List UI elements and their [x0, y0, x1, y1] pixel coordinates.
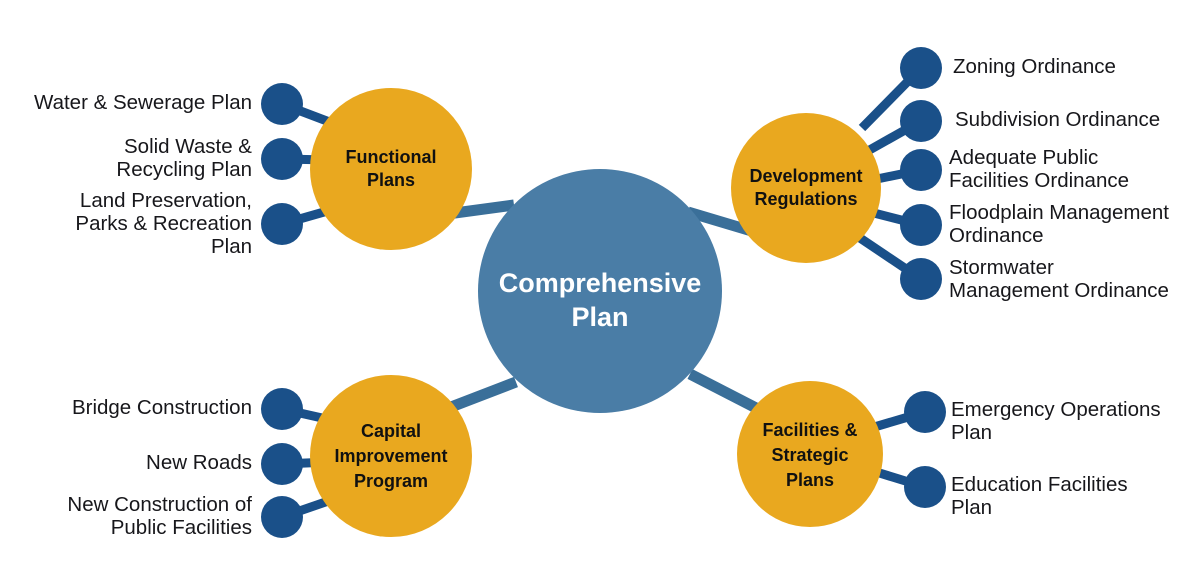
leaf-dot-functional-plans-1[interactable] [261, 138, 303, 180]
category-node-functional-plans[interactable]: Functional Plans [310, 88, 472, 250]
hub-label-line-2: Plan [571, 302, 628, 332]
category-label-facilities-strategic-plans-line-3: Plans [786, 470, 834, 490]
category-circle-development-regulations[interactable] [731, 113, 881, 263]
category-label-functional-plans-line-2: Plans [367, 170, 415, 190]
leaf-dot-development-regulations-1[interactable] [900, 100, 942, 142]
category-label-development-regulations-line-1: Development [749, 166, 862, 186]
leaf-dot-development-regulations-0[interactable] [900, 47, 942, 89]
category-label-capital-improvement-program-line-1: Capital [361, 421, 421, 441]
category-node-facilities-strategic-plans[interactable]: Facilities & Strategic Plans [737, 381, 883, 527]
leaf-label-development-regulations-2: Adequate Public Facilities Ordinance [949, 146, 1194, 192]
leaf-dot-facilities-strategic-plans-0[interactable] [904, 391, 946, 433]
category-label-capital-improvement-program-line-3: Program [354, 471, 428, 491]
category-label-development-regulations-line-2: Regulations [754, 189, 857, 209]
leaf-dot-facilities-strategic-plans-1[interactable] [904, 466, 946, 508]
hub-node[interactable]: Comprehensive Plan [478, 169, 722, 413]
category-label-facilities-strategic-plans-line-1: Facilities & [762, 420, 857, 440]
leaf-label-development-regulations-4: Stormwater Management Ordinance [949, 256, 1199, 302]
leaf-dot-capital-improvement-program-2[interactable] [261, 496, 303, 538]
leaf-label-development-regulations-0: Zoning Ordinance [953, 55, 1198, 78]
category-node-capital-improvement-program[interactable]: Capital Improvement Program [310, 375, 472, 537]
leaf-label-capital-improvement-program-2: New Construction of Public Facilities [2, 493, 252, 539]
leaf-dot-development-regulations-2[interactable] [900, 149, 942, 191]
leaf-dot-capital-improvement-program-1[interactable] [261, 443, 303, 485]
leaf-label-facilities-strategic-plans-1: Education Facilities Plan [951, 473, 1196, 519]
leaf-dot-development-regulations-3[interactable] [900, 204, 942, 246]
leaf-label-functional-plans-1: Solid Waste & Recycling Plan [12, 135, 252, 181]
category-node-development-regulations[interactable]: Development Regulations [731, 113, 881, 263]
leaf-dot-functional-plans-2[interactable] [261, 203, 303, 245]
connector-hub-to-facilities-strategic-plans [690, 374, 760, 410]
leaf-label-functional-plans-0: Water & Sewerage Plan [12, 91, 252, 114]
category-circle-functional-plans[interactable] [310, 88, 472, 250]
leaf-label-capital-improvement-program-1: New Roads [2, 451, 252, 474]
comprehensive-plan-diagram: Comprehensive Plan Functional Plans Deve… [0, 0, 1200, 569]
category-label-facilities-strategic-plans-line-2: Strategic [771, 445, 848, 465]
leaf-dot-capital-improvement-program-0[interactable] [261, 388, 303, 430]
leaf-label-capital-improvement-program-0: Bridge Construction [2, 396, 252, 419]
leaf-label-functional-plans-2: Land Preservation, Parks & Recreation Pl… [12, 189, 252, 258]
leaf-dot-development-regulations-4[interactable] [900, 258, 942, 300]
leaf-label-development-regulations-3: Floodplain Management Ordinance [949, 201, 1199, 247]
leaf-label-facilities-strategic-plans-0: Emergency Operations Plan [951, 398, 1196, 444]
leaf-label-development-regulations-1: Subdivision Ordinance [955, 108, 1200, 131]
hub-label-line-1: Comprehensive [499, 268, 702, 298]
leaf-dot-functional-plans-0[interactable] [261, 83, 303, 125]
category-label-functional-plans-line-1: Functional [346, 147, 437, 167]
category-label-capital-improvement-program-line-2: Improvement [334, 446, 447, 466]
